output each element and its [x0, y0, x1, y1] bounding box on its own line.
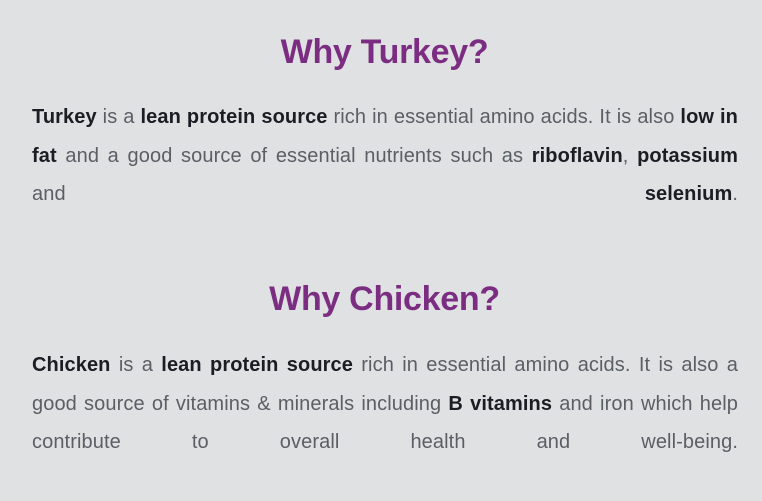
emphasized-term: riboflavin: [532, 145, 623, 167]
heading-why-chicken: Why Chicken?: [32, 252, 737, 319]
body-text-run: .: [732, 183, 738, 205]
body-text-run: and a good source of essential nutrients…: [57, 145, 532, 167]
body-text-run: ,: [623, 145, 637, 167]
emphasized-term: Turkey: [32, 106, 97, 128]
emphasized-term: Chicken: [32, 354, 111, 376]
emphasized-term: lean protein source: [161, 354, 353, 376]
body-text-run: is a: [97, 106, 141, 128]
emphasized-term: potassium: [637, 145, 738, 167]
paragraph-chicken: Chicken is a lean protein source rich in…: [32, 346, 738, 500]
body-text-run: rich in essential amino acids. It is als…: [328, 106, 681, 128]
paragraph-turkey: Turkey is a lean protein source rich in …: [32, 98, 738, 252]
emphasized-term: lean protein source: [141, 106, 328, 128]
heading-why-turkey: Why Turkey?: [32, 0, 737, 72]
content-page: Why Turkey? Turkey is a lean protein sou…: [0, 0, 762, 501]
emphasized-term: B vitamins: [448, 393, 552, 415]
body-text-run: and: [32, 183, 645, 205]
emphasized-term: selenium: [645, 183, 733, 205]
body-text-run: is a: [111, 354, 162, 376]
